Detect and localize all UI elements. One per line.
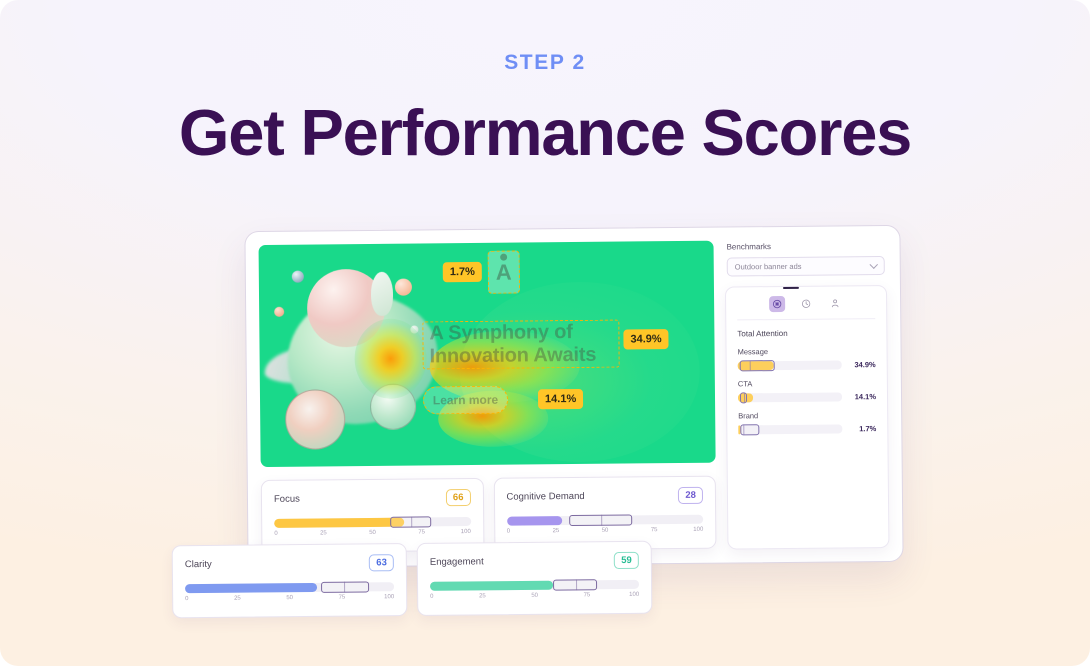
gauge-benchmark-midline	[344, 582, 345, 593]
gauge-tick: 75	[339, 595, 346, 601]
decor-dot-mint	[410, 325, 418, 333]
attention-bar-track	[738, 392, 842, 402]
attention-item-label: CTA	[738, 378, 876, 388]
metric-label: Cognitive Demand	[506, 491, 584, 503]
chevron-down-icon	[870, 260, 878, 268]
side-panel: Benchmarks Outdoor banner ads	[725, 239, 890, 550]
decor-dot-orange-small	[274, 307, 284, 317]
attention-bar	[738, 360, 842, 370]
brand-logo-dot	[500, 253, 507, 260]
attention-items-list: Message34.9%CTA14.1%Brand1.7%	[738, 346, 877, 434]
gauge-tick: 75	[418, 530, 425, 536]
attention-item: CTA14.1%	[738, 378, 876, 402]
creative-preview[interactable]: A A Symphony of Innovation Awaits Learn …	[259, 241, 716, 467]
metric-gauge	[185, 583, 394, 594]
brand-logo-letter: A	[496, 259, 512, 284]
gauge-benchmark-range	[390, 517, 431, 528]
tab-audience[interactable]	[827, 295, 843, 311]
gauge-benchmark-range	[553, 580, 597, 591]
gauge-tick-labels: 0255075100	[507, 527, 704, 541]
metric-card-header: Cognitive Demand28	[506, 487, 703, 506]
attention-item-row: 1.7%	[738, 424, 876, 434]
attention-benchmark-midline	[743, 425, 744, 434]
gauge-tick: 0	[507, 529, 510, 535]
metric-card[interactable]: Clarity630255075100	[172, 543, 408, 619]
gauge-benchmark-midline	[412, 517, 413, 528]
attention-bar	[738, 424, 842, 434]
gauge-tick: 25	[320, 531, 327, 537]
attention-title: Total Attention	[737, 328, 875, 338]
heading-block: STEP 2 Get Performance Scores	[0, 52, 1090, 167]
clock-icon	[801, 299, 811, 309]
decor-dot-blue	[292, 271, 304, 283]
benchmarks-block: Benchmarks Outdoor banner ads	[725, 241, 887, 277]
gauge-fill	[507, 517, 562, 527]
attention-item: Message34.9%	[738, 346, 876, 370]
gauge-benchmark-midline	[601, 515, 602, 526]
metric-card-header: Clarity63	[185, 554, 394, 573]
decor-sphere-capsule	[371, 272, 393, 316]
attention-item-row: 14.1%	[738, 392, 876, 402]
aoi-cta-button[interactable]: Learn more	[423, 386, 508, 415]
gauge-tick: 25	[234, 596, 241, 602]
benchmarks-label: Benchmarks	[727, 241, 885, 252]
cta-label: Learn more	[433, 393, 498, 408]
attention-card: Total Attention Message34.9%CTA14.1%Bran…	[725, 285, 890, 550]
gauge-tick: 100	[629, 592, 639, 598]
heatmap-icon	[772, 299, 782, 309]
gauge-tick: 50	[531, 593, 538, 599]
badge-brand-percent: 1.7%	[443, 262, 482, 282]
gauge-tick: 50	[602, 528, 609, 534]
window-inner: A A Symphony of Innovation Awaits Learn …	[245, 226, 902, 567]
gauge-fill	[430, 581, 553, 591]
gauge-benchmark-midline	[576, 580, 577, 591]
tab-timing[interactable]	[798, 296, 814, 312]
gauge-benchmark-range	[570, 515, 633, 527]
gauge-tick: 75	[651, 528, 658, 534]
heatmap-overlay-soft	[459, 281, 701, 463]
decor-sphere-left	[285, 389, 346, 450]
metric-gauge	[430, 580, 639, 591]
attention-benchmark-range	[740, 360, 775, 371]
headline-line-1: A Symphony of	[429, 321, 618, 346]
attention-tabs	[737, 295, 875, 320]
decor-dot-orange	[395, 279, 412, 296]
attention-item-value: 14.1%	[850, 392, 876, 401]
gauge-tick: 100	[693, 527, 703, 533]
gauge-tick: 100	[384, 595, 394, 601]
badge-message-percent: 34.9%	[623, 329, 668, 349]
attention-benchmark-midline	[750, 361, 751, 370]
creative-column: A A Symphony of Innovation Awaits Learn …	[259, 241, 717, 554]
page-title: Get Performance Scores	[0, 99, 1090, 167]
metric-cards-row-floating: Clarity630255075100Engagement59025507510…	[172, 541, 653, 619]
gauge-tick: 0	[430, 594, 433, 600]
attention-bar	[738, 392, 842, 402]
gauge-fill	[185, 583, 317, 593]
metric-score-badge: 59	[614, 552, 639, 570]
gauge-tick: 25	[553, 529, 560, 535]
metric-card-header: Focus66	[274, 489, 471, 508]
step-label: STEP 2	[0, 52, 1090, 73]
app-window: A A Symphony of Innovation Awaits Learn …	[244, 225, 903, 568]
gauge-tick: 0	[185, 597, 188, 603]
attention-item: Brand1.7%	[738, 410, 876, 434]
metric-label: Engagement	[430, 556, 484, 568]
gauge-benchmark-range	[321, 582, 369, 593]
metric-gauge	[507, 515, 704, 526]
attention-benchmark-midline	[744, 393, 745, 402]
headline-line-2: Innovation Awaits	[430, 344, 619, 369]
metric-label: Clarity	[185, 559, 212, 570]
gauge-tick: 75	[584, 593, 591, 599]
benchmarks-selected-value: Outdoor banner ads	[735, 262, 802, 272]
attention-benchmark-range	[740, 392, 747, 403]
metric-score-badge: 66	[446, 489, 471, 507]
attention-item-value: 1.7%	[850, 424, 876, 433]
attention-item-label: Brand	[738, 410, 876, 420]
metric-label: Focus	[274, 494, 300, 505]
metric-score-badge: 63	[369, 554, 394, 572]
gauge-tick: 25	[479, 594, 486, 600]
gauge-tick-labels: 0255075100	[430, 592, 639, 606]
metric-gauge	[274, 517, 471, 528]
gauge-tick-labels: 0255075100	[274, 529, 471, 543]
benchmarks-select[interactable]: Outdoor banner ads	[727, 256, 885, 277]
aoi-brand[interactable]: A	[488, 251, 520, 294]
person-icon	[830, 298, 840, 308]
metric-score-badge: 28	[678, 487, 703, 505]
gauge-fill	[274, 518, 404, 528]
page-root: STEP 2 Get Performance Scores	[0, 0, 1090, 666]
attention-item-row: 34.9%	[738, 360, 876, 370]
metric-card[interactable]: Engagement590255075100	[417, 541, 653, 617]
gauge-tick-labels: 0255075100	[185, 595, 394, 609]
brand-logo-icon: A	[496, 261, 512, 283]
attention-item-value: 34.9%	[850, 360, 876, 369]
tab-heatmap[interactable]	[769, 296, 785, 312]
gauge-tick: 100	[461, 529, 471, 535]
attention-item-label: Message	[738, 346, 876, 356]
badge-cta-percent: 14.1%	[538, 389, 583, 409]
metric-card[interactable]: Cognitive Demand280255075100	[493, 476, 716, 552]
decor-sphere-right	[370, 384, 416, 430]
gauge-tick: 50	[286, 596, 293, 602]
gauge-tick: 50	[369, 530, 376, 536]
aoi-headline[interactable]: A Symphony of Innovation Awaits	[422, 320, 619, 370]
gauge-tick: 0	[274, 531, 277, 537]
metric-card-header: Engagement59	[430, 552, 639, 571]
attention-benchmark-range	[740, 424, 759, 435]
tab-active-underline	[783, 287, 799, 289]
